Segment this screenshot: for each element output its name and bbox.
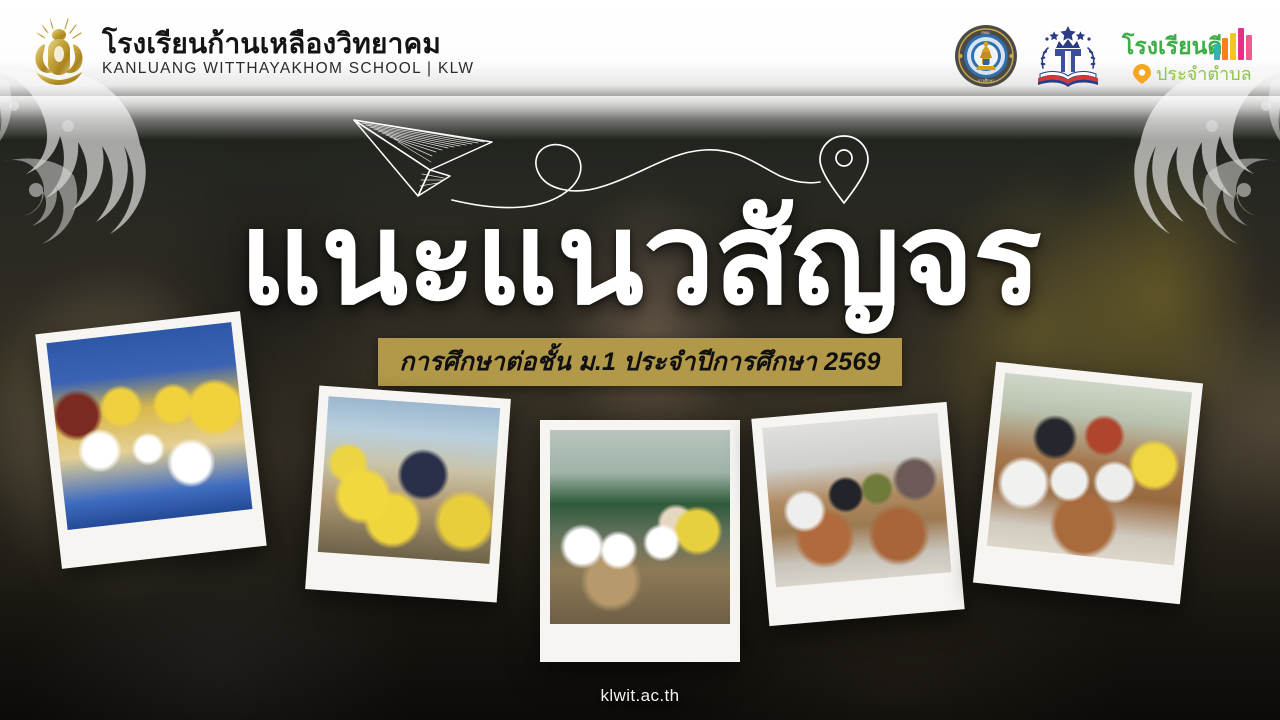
subtitle-banner: การศึกษาต่อชั้น ม.1 ประจำปีการศึกษา 2569	[378, 338, 902, 386]
photo-polaroid	[540, 420, 740, 662]
school-brand-lockup: โรงเรียนก้านเหลืองวิทยาคม KANLUANG WITTH…	[28, 14, 474, 88]
poster-canvas: โรงเรียนก้านเหลืองวิทยาคม KANLUANG WITTH…	[0, 0, 1280, 720]
photo-polaroid	[305, 386, 511, 603]
school-name-english: KANLUANG WITTHAYAKHOM SCHOOL | KLW	[102, 60, 474, 77]
royal-garuda-seal-icon	[28, 14, 90, 88]
crown-book-emblem-icon	[1032, 22, 1104, 90]
svg-text:ประจำตำบล: ประจำตำบล	[1156, 64, 1252, 84]
photo-polaroid	[973, 362, 1203, 605]
svg-text:สพม.: สพม.	[981, 30, 991, 35]
photo-polaroid	[751, 402, 964, 626]
partner-logos: สพม. การศึกษา	[954, 22, 1258, 90]
provincial-education-seal-icon: สพม. การศึกษา	[954, 24, 1018, 88]
photo-image	[550, 430, 730, 624]
svg-text:การศึกษา: การศึกษา	[978, 78, 995, 83]
photo-image	[762, 413, 951, 588]
website-url: klwit.ac.th	[0, 686, 1280, 706]
photo-image	[46, 322, 252, 530]
photo-polaroid	[35, 311, 266, 569]
svg-text:โรงเรียนดี: โรงเรียนดี	[1121, 32, 1222, 59]
photo-image	[987, 373, 1192, 566]
page-title: แนะแนวสัญจร	[0, 196, 1280, 324]
subtitle-text: การศึกษาต่อชั้น ม.1 ประจำปีการศึกษา 2569	[399, 342, 880, 382]
photo-image	[318, 396, 500, 564]
school-name-thai: โรงเรียนก้านเหลืองวิทยาคม	[102, 29, 474, 58]
good-school-logo-icon: โรงเรียนดี ประจำตำบล	[1118, 26, 1258, 86]
